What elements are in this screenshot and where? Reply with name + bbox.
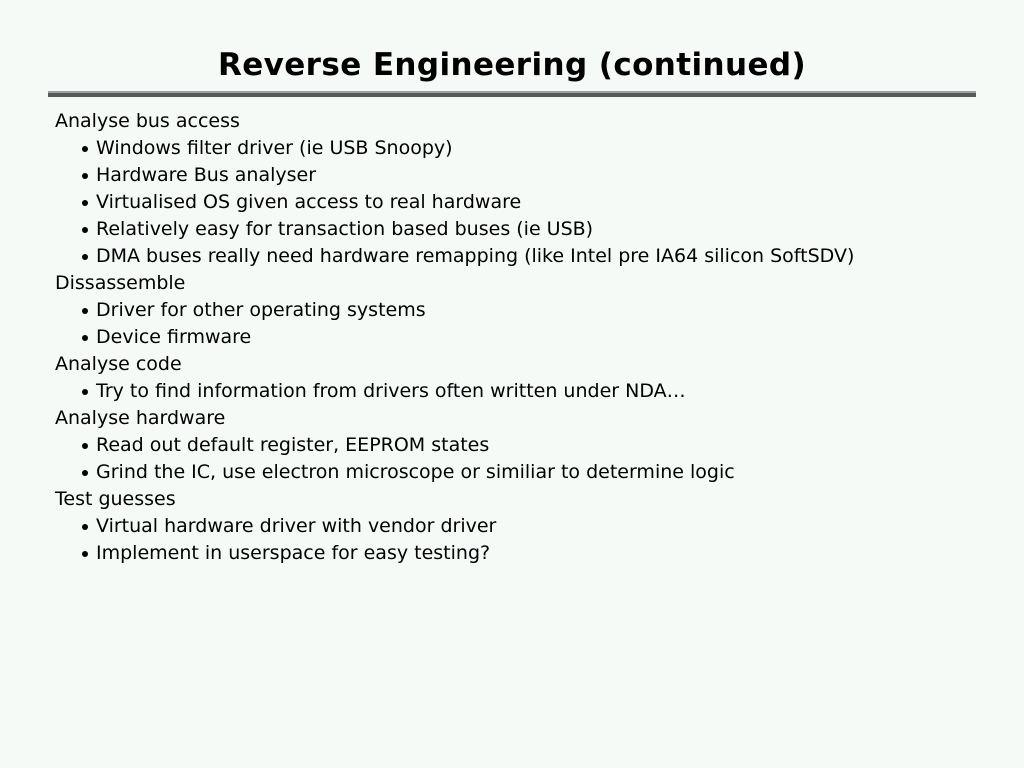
section-heading: Analyse hardware: [0, 405, 1024, 432]
bullet-label: Hardware Bus analyser: [96, 164, 316, 186]
list-item: Driver for other operating systems: [0, 297, 1024, 324]
title-divider: [48, 91, 976, 97]
section-heading: Test guesses: [0, 486, 1024, 513]
bullet-list: Virtual hardware driver with vendor driv…: [0, 513, 1024, 567]
round-bullet-icon: [82, 443, 88, 449]
list-item: Read out default register, EEPROM states: [0, 432, 1024, 459]
round-bullet-icon: [82, 146, 88, 152]
title-divider-shadow: [48, 93, 976, 97]
list-item: Implement in userspace for easy testing?: [0, 540, 1024, 567]
bullet-label: Implement in userspace for easy testing?: [96, 542, 490, 564]
bullet-list: Windows filter driver (ie USB Snoopy)Har…: [0, 135, 1024, 270]
round-bullet-icon: [82, 254, 88, 260]
round-bullet-icon: [82, 227, 88, 233]
page-title: Reverse Engineering (continued): [0, 46, 1024, 84]
list-item: Relatively easy for transaction based bu…: [0, 216, 1024, 243]
section-heading: Analyse code: [0, 351, 1024, 378]
slide-body: Analyse bus accessWindows filter driver …: [0, 108, 1024, 567]
round-bullet-icon: [82, 308, 88, 314]
outline-section: Analyse codeTry to find information from…: [0, 351, 1024, 405]
bullet-label: Virtualised OS given access to real hard…: [96, 191, 521, 213]
round-bullet-icon: [82, 173, 88, 179]
bullet-label: DMA buses really need hardware remapping…: [96, 245, 854, 267]
outline-section: Test guessesVirtual hardware driver with…: [0, 486, 1024, 567]
list-item: Hardware Bus analyser: [0, 162, 1024, 189]
bullet-label: Driver for other operating systems: [96, 299, 426, 321]
list-item: DMA buses really need hardware remapping…: [0, 243, 1024, 270]
presentation-slide: Reverse Engineering (continued) Analyse …: [0, 0, 1024, 768]
outline-section: DissassembleDriver for other operating s…: [0, 270, 1024, 351]
bullet-label: Read out default register, EEPROM states: [96, 434, 489, 456]
round-bullet-icon: [82, 470, 88, 476]
section-heading: Dissassemble: [0, 270, 1024, 297]
bullet-list: Read out default register, EEPROM states…: [0, 432, 1024, 486]
round-bullet-icon: [82, 524, 88, 530]
bullet-label: Device firmware: [96, 326, 251, 348]
bullet-label: Windows filter driver (ie USB Snoopy): [96, 137, 453, 159]
round-bullet-icon: [82, 335, 88, 341]
outline-section: Analyse bus accessWindows filter driver …: [0, 108, 1024, 270]
outline-section: Analyse hardwareRead out default registe…: [0, 405, 1024, 486]
list-item: Virtual hardware driver with vendor driv…: [0, 513, 1024, 540]
round-bullet-icon: [82, 389, 88, 395]
bullet-list: Try to find information from drivers oft…: [0, 378, 1024, 405]
bullet-list: Driver for other operating systemsDevice…: [0, 297, 1024, 351]
list-item: Windows filter driver (ie USB Snoopy): [0, 135, 1024, 162]
list-item: Virtualised OS given access to real hard…: [0, 189, 1024, 216]
list-item: Try to find information from drivers oft…: [0, 378, 1024, 405]
bullet-label: Try to find information from drivers oft…: [96, 380, 686, 402]
round-bullet-icon: [82, 551, 88, 557]
list-item: Grind the IC, use electron microscope or…: [0, 459, 1024, 486]
bullet-label: Virtual hardware driver with vendor driv…: [96, 515, 496, 537]
bullet-label: Grind the IC, use electron microscope or…: [96, 461, 735, 483]
slide-title-block: Reverse Engineering (continued): [0, 46, 1024, 84]
section-heading: Analyse bus access: [0, 108, 1024, 135]
bullet-label: Relatively easy for transaction based bu…: [96, 218, 593, 240]
round-bullet-icon: [82, 200, 88, 206]
list-item: Device firmware: [0, 324, 1024, 351]
